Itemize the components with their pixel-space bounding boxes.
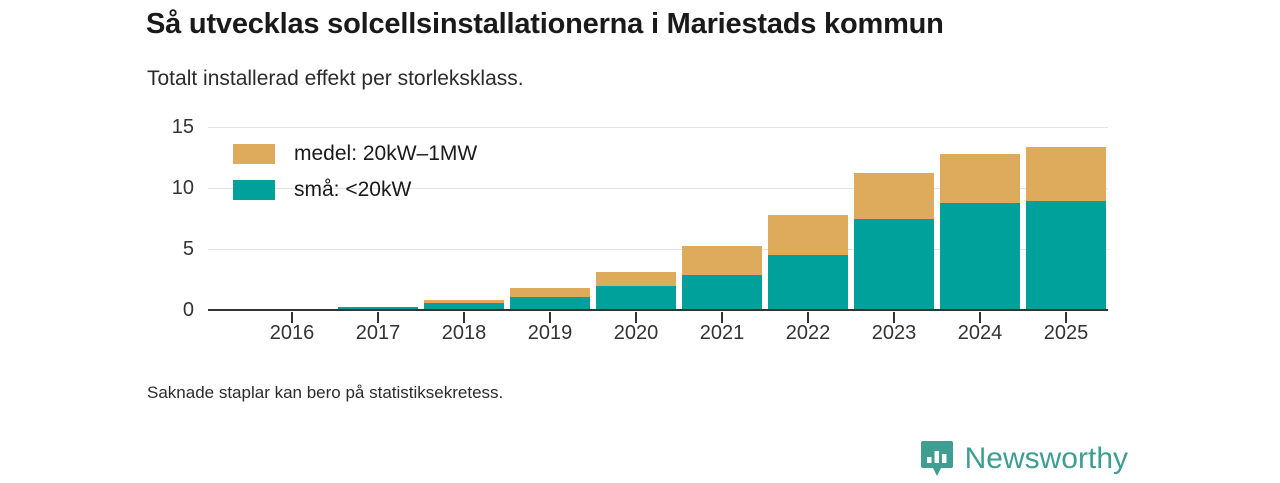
x-axis-label-2023: 2023 bbox=[851, 322, 937, 344]
chart-footnote: Saknade staplar kan bero på statistiksek… bbox=[147, 382, 503, 404]
chart-plot-area: 051015 201620172018201920202021202220232… bbox=[0, 0, 1280, 480]
y-axis-label-0: 0 bbox=[120, 300, 194, 320]
bar-group-2022[interactable] bbox=[768, 140, 848, 310]
bar-group-2019[interactable] bbox=[510, 140, 590, 310]
x-axis-label-2016: 2016 bbox=[249, 322, 335, 344]
bar-segment-medium-2020[interactable] bbox=[596, 272, 676, 286]
bar-segment-small-2021[interactable] bbox=[682, 275, 762, 310]
bar-segment-medium-2018[interactable] bbox=[424, 300, 504, 303]
x-axis-label-2021: 2021 bbox=[679, 322, 765, 344]
x-axis-label-2019: 2019 bbox=[507, 322, 593, 344]
gridline-15 bbox=[208, 127, 1108, 128]
bar-segment-small-2025[interactable] bbox=[1026, 201, 1106, 310]
chart-legend: medel: 20kW–1MWsmå: <20kW bbox=[233, 139, 477, 211]
bar-segment-small-2020[interactable] bbox=[596, 286, 676, 310]
legend-item-0[interactable]: medel: 20kW–1MW bbox=[233, 139, 477, 169]
x-axis-label-2017: 2017 bbox=[335, 322, 421, 344]
y-axis-label-15: 15 bbox=[120, 117, 194, 137]
bar-segment-small-2023[interactable] bbox=[854, 219, 934, 311]
bar-segment-medium-2024[interactable] bbox=[940, 154, 1020, 203]
x-axis-label-2024: 2024 bbox=[937, 322, 1023, 344]
bar-segment-small-2022[interactable] bbox=[768, 255, 848, 310]
bar-segment-medium-2019[interactable] bbox=[510, 288, 590, 297]
legend-item-1[interactable]: små: <20kW bbox=[233, 175, 477, 205]
bar-group-2020[interactable] bbox=[596, 140, 676, 310]
y-axis-label-10: 10 bbox=[120, 178, 194, 198]
bar-segment-medium-2023[interactable] bbox=[854, 173, 934, 218]
legend-swatch-small bbox=[233, 180, 275, 200]
bar-group-2024[interactable] bbox=[940, 140, 1020, 310]
bar-group-2025[interactable] bbox=[1026, 140, 1106, 310]
x-axis-label-2022: 2022 bbox=[765, 322, 851, 344]
chart-page: Så utvecklas solcellsinstallationerna i … bbox=[0, 0, 1280, 480]
bar-segment-medium-2021[interactable] bbox=[682, 246, 762, 275]
bar-segment-medium-2022[interactable] bbox=[768, 215, 848, 255]
bar-group-2021[interactable] bbox=[682, 140, 762, 310]
axis-baseline bbox=[208, 309, 1108, 311]
legend-swatch-medium bbox=[233, 144, 275, 164]
y-axis-label-5: 5 bbox=[120, 239, 194, 259]
brand-name: Newsworthy bbox=[965, 443, 1128, 475]
legend-label-0: medel: 20kW–1MW bbox=[294, 143, 477, 165]
x-axis-label-2025: 2025 bbox=[1023, 322, 1109, 344]
bar-segment-medium-2025[interactable] bbox=[1026, 147, 1106, 201]
bar-group-2023[interactable] bbox=[854, 140, 934, 310]
bar-segment-small-2024[interactable] bbox=[940, 203, 1020, 310]
bar-chart-pin-icon bbox=[920, 440, 954, 478]
legend-label-1: små: <20kW bbox=[294, 179, 411, 201]
x-axis-label-2020: 2020 bbox=[593, 322, 679, 344]
brand-logo: Newsworthy bbox=[920, 440, 1128, 478]
x-axis-label-2018: 2018 bbox=[421, 322, 507, 344]
